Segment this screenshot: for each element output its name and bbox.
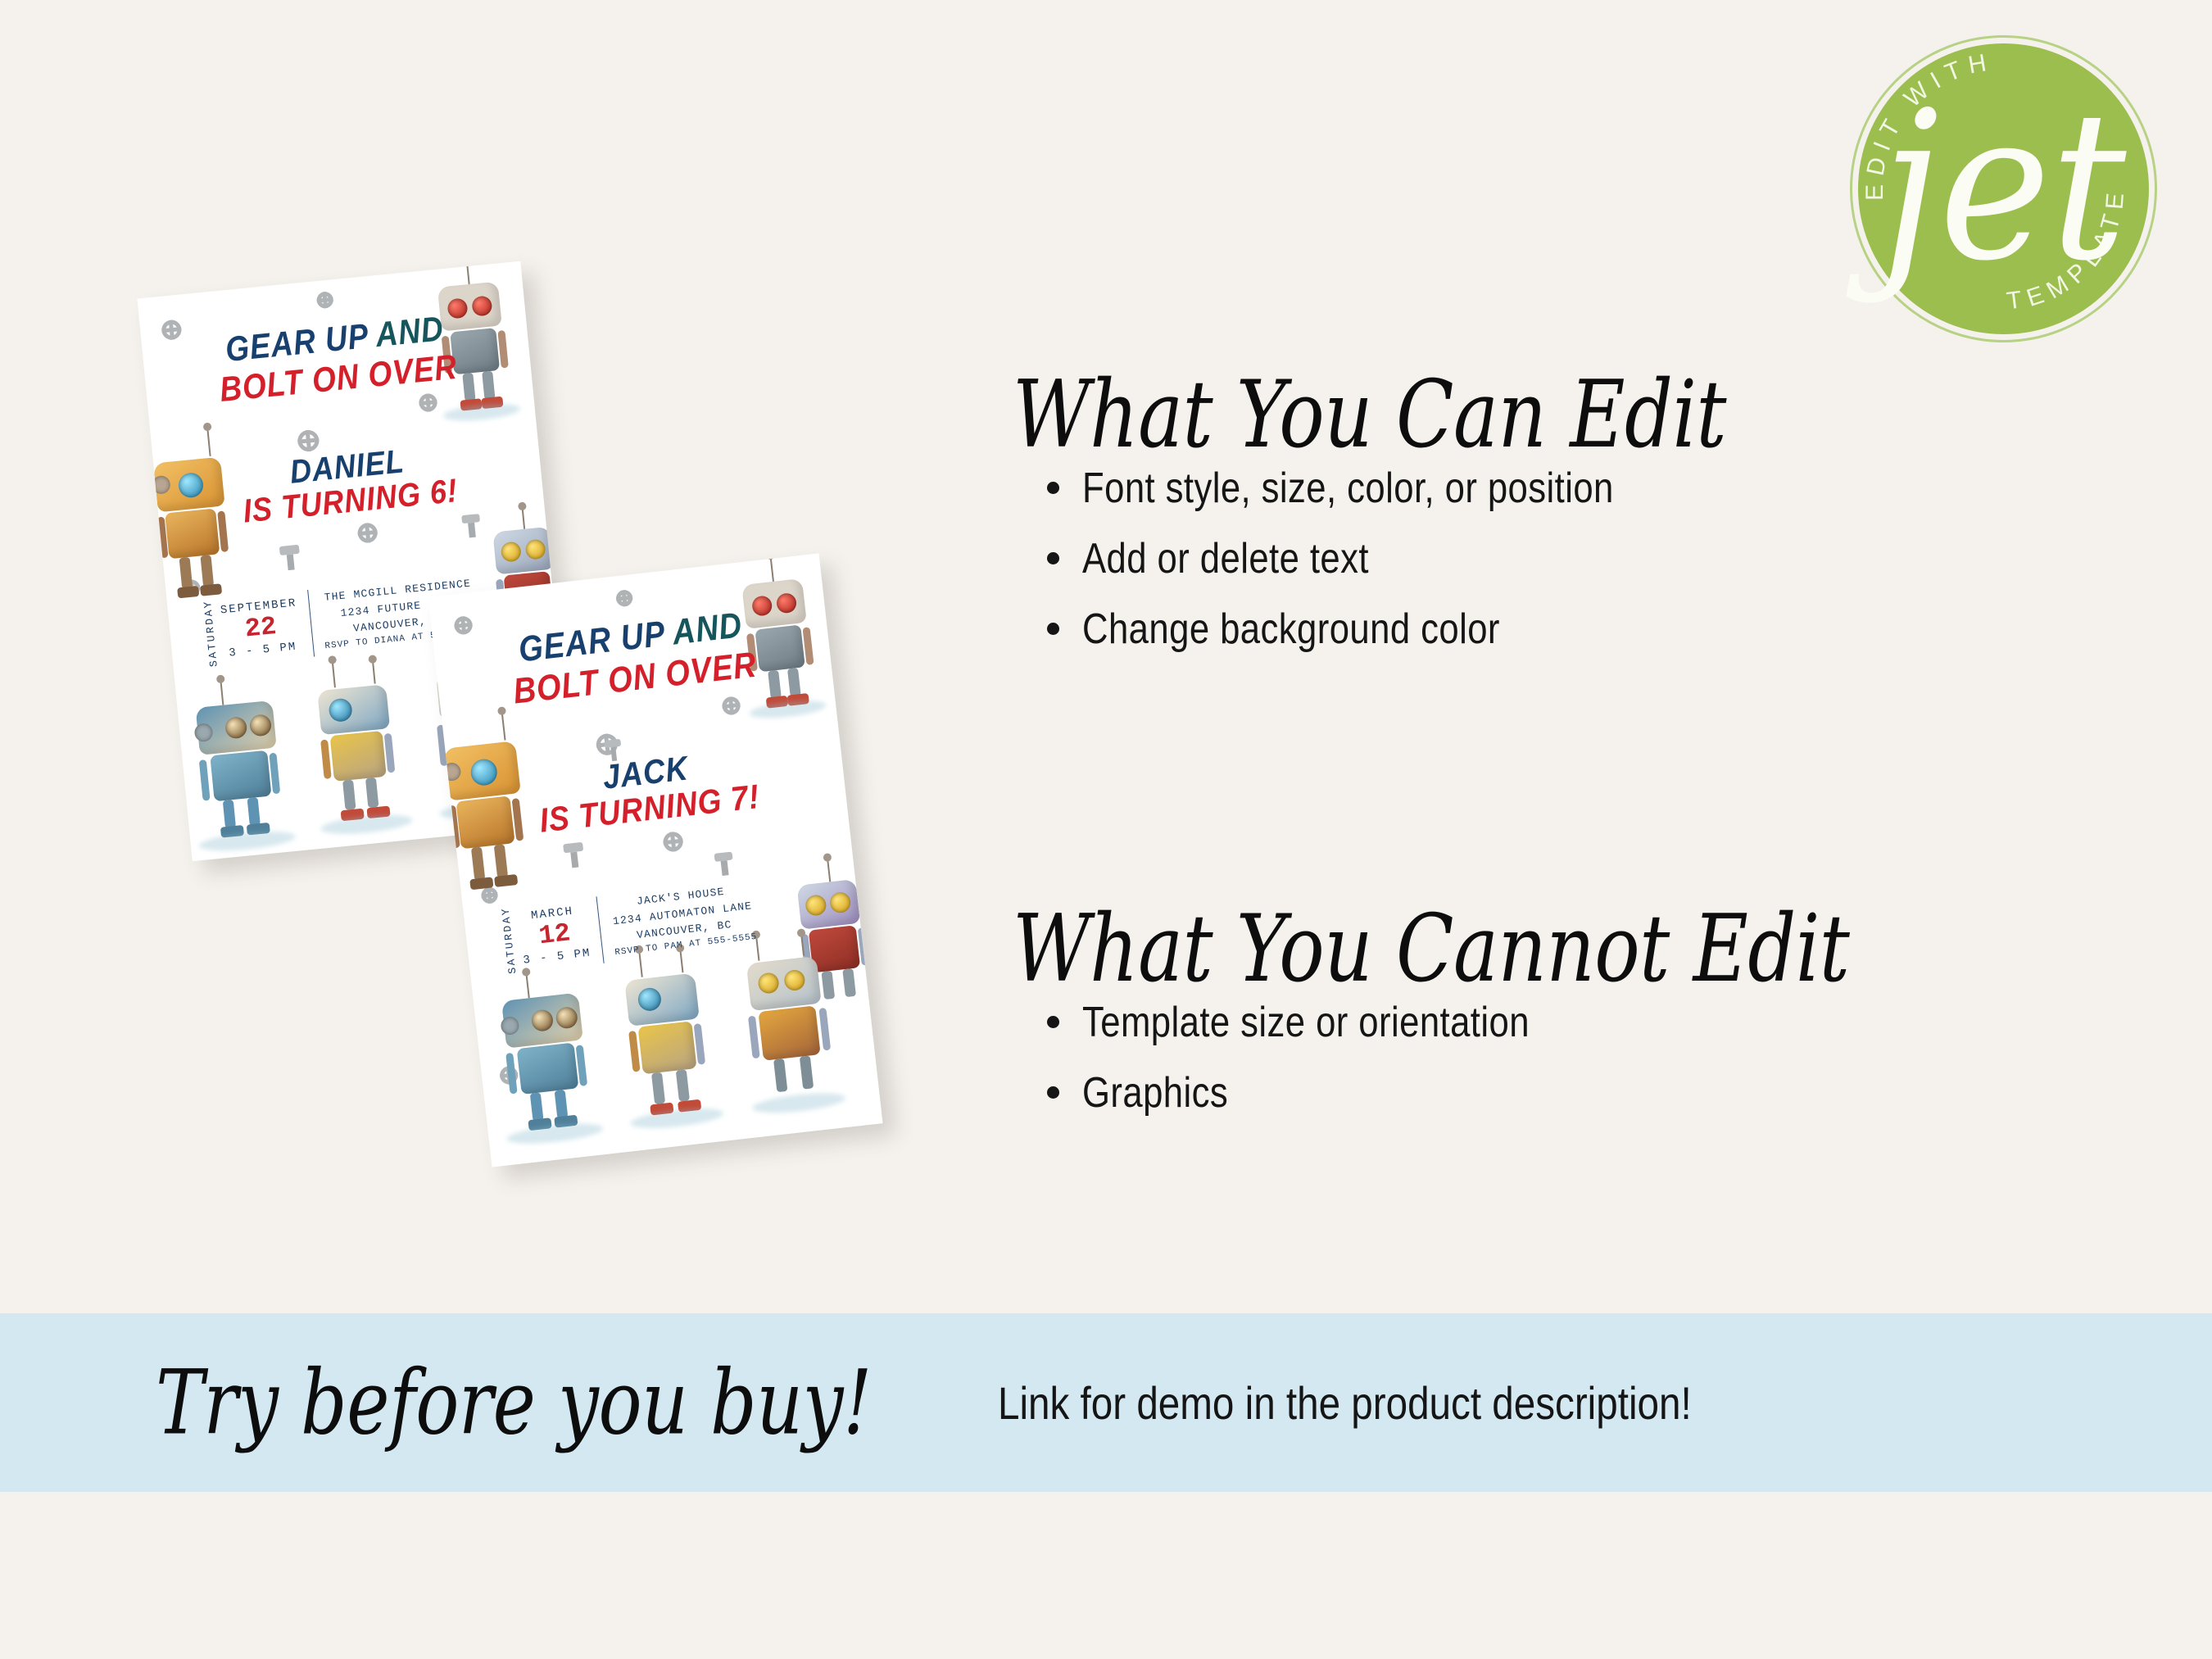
promo-note-text: Link for demo in the product description… bbox=[998, 1376, 1692, 1430]
card-jack-weekday: SATURDAY bbox=[499, 906, 519, 975]
can-edit-item-3: Change background color bbox=[1082, 605, 1500, 654]
gear-icon bbox=[297, 429, 320, 452]
list-item: Add or delete text bbox=[1047, 534, 1715, 583]
cannot-edit-heading: What You Cannot Edit bbox=[1013, 895, 1849, 1003]
card-jack-address-block: JACK'S HOUSE 1234 AUTOMATON LANE VANCOUV… bbox=[609, 882, 758, 960]
robot-graphic bbox=[731, 949, 852, 1123]
detail-divider bbox=[307, 590, 315, 657]
listing-canvas: EDIT WITH TEMPLATE jet bbox=[0, 0, 2212, 1659]
robot-graphic bbox=[306, 678, 415, 843]
gear-icon bbox=[316, 291, 334, 309]
can-edit-item-2: Add or delete text bbox=[1082, 534, 1369, 583]
list-item: Change background color bbox=[1047, 605, 1715, 654]
can-edit-heading: What You Can Edit bbox=[1013, 360, 1726, 469]
gear-icon bbox=[357, 522, 378, 543]
headline-and: AND bbox=[670, 605, 744, 653]
cannot-edit-item-2: Graphics bbox=[1082, 1068, 1228, 1117]
invitation-card-jack[interactable]: GEAR UP AND BOLT ON OVER JACK IS TURNING… bbox=[428, 553, 882, 1167]
robot-graphic bbox=[182, 696, 301, 858]
bullet-dot-icon bbox=[1047, 1086, 1059, 1099]
list-item: Template size or orientation bbox=[1047, 998, 1615, 1047]
bullet-dot-icon bbox=[1047, 552, 1059, 564]
detail-divider bbox=[596, 896, 605, 963]
list-item: Font style, size, color, or position bbox=[1047, 464, 1715, 513]
can-edit-item-1: Font style, size, color, or position bbox=[1082, 464, 1614, 513]
can-edit-list: Font style, size, color, or position Add… bbox=[1047, 464, 1715, 675]
headline-and: AND bbox=[374, 309, 445, 354]
card-daniel-weekday: SATURDAY bbox=[202, 599, 220, 667]
bolt-icon bbox=[563, 842, 585, 868]
gear-icon bbox=[615, 589, 633, 607]
cannot-edit-item-1: Template size or orientation bbox=[1082, 998, 1530, 1047]
card-jack-content: GEAR UP AND BOLT ON OVER JACK IS TURNING… bbox=[428, 553, 882, 1167]
bullet-dot-icon bbox=[1047, 623, 1059, 635]
bullet-dot-icon bbox=[1047, 1016, 1059, 1028]
promo-banner: Try before you buy! Link for demo in the… bbox=[0, 1313, 2212, 1492]
badge-brand-wordmark: jet bbox=[1862, 52, 2145, 322]
gear-icon bbox=[419, 393, 438, 413]
robot-graphic bbox=[488, 988, 610, 1154]
gear-icon bbox=[721, 696, 741, 715]
bolt-icon bbox=[461, 514, 482, 538]
promo-script-text: Try before you buy! bbox=[156, 1351, 872, 1454]
bolt-icon bbox=[279, 545, 301, 571]
gear-icon bbox=[662, 831, 684, 853]
card-jack-date-block: MARCH 12 3 - 5 PM bbox=[518, 904, 592, 968]
bullet-dot-icon bbox=[1047, 482, 1059, 494]
cannot-edit-list: Template size or orientation Graphics bbox=[1047, 998, 1615, 1139]
robot-graphic bbox=[613, 967, 727, 1137]
gear-icon bbox=[453, 615, 473, 635]
list-item: Graphics bbox=[1047, 1068, 1615, 1117]
bolt-icon bbox=[714, 852, 735, 877]
edit-with-jet-badge: EDIT WITH TEMPLATE jet bbox=[1850, 35, 2157, 342]
card-daniel-date-block: SEPTEMBER 22 3 - 5 PM bbox=[220, 596, 301, 660]
